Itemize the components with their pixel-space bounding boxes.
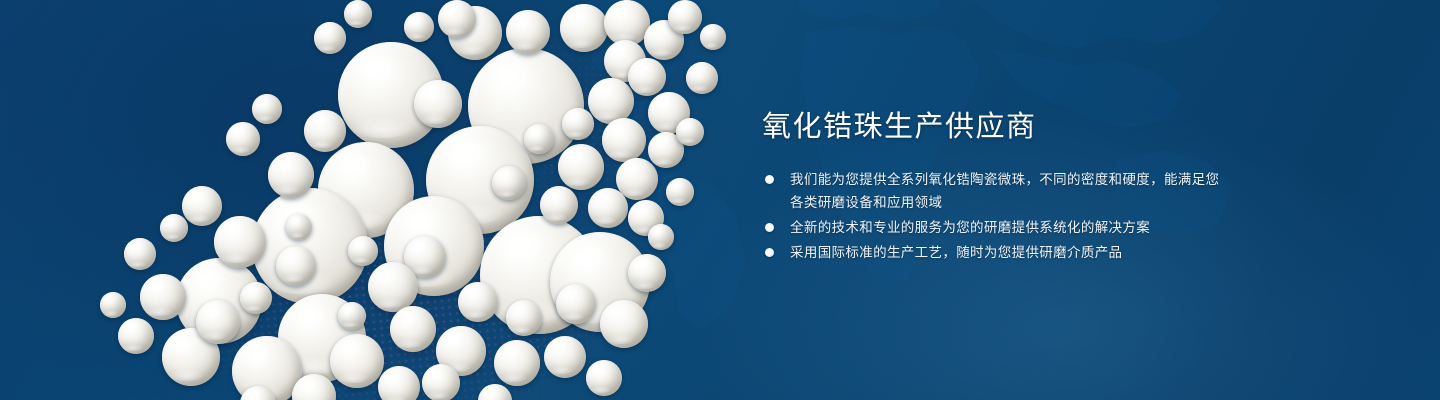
- bullet-dot-icon: [765, 248, 774, 257]
- banner-bullet-list: 我们能为您提供全系列氧化锆陶瓷微珠，不同的密度和硬度，能满足您各类研磨设备和应用…: [762, 168, 1232, 264]
- banner-copy: 氧化锆珠生产供应商 我们能为您提供全系列氧化锆陶瓷微珠，不同的密度和硬度，能满足…: [762, 108, 1232, 266]
- zirconia-beads-image: [0, 0, 760, 400]
- banner-headline: 氧化锆珠生产供应商: [762, 108, 1232, 146]
- banner-bullet-text-2: 全新的技术和专业的服务为您的研磨提供系统化的解决方案: [790, 220, 1150, 235]
- banner-bullet-item-3: 采用国际标准的生产工艺，随时为您提供研磨介质产品: [762, 241, 1232, 264]
- banner-bullet-item-2: 全新的技术和专业的服务为您的研磨提供系统化的解决方案: [762, 216, 1232, 239]
- halftone-texture-upper: [520, 0, 800, 280]
- bullet-dot-icon: [765, 223, 774, 232]
- bullet-dot-icon: [765, 175, 774, 184]
- banner-bullet-text-1: 我们能为您提供全系列氧化锆陶瓷微珠，不同的密度和硬度，能满足您各类研磨设备和应用…: [790, 172, 1219, 210]
- banner-bullet-item-1: 我们能为您提供全系列氧化锆陶瓷微珠，不同的密度和硬度，能满足您各类研磨设备和应用…: [762, 168, 1232, 214]
- hero-banner: 氧化锆珠生产供应商 我们能为您提供全系列氧化锆陶瓷微珠，不同的密度和硬度，能满足…: [0, 0, 1440, 400]
- halftone-texture: [79, 171, 661, 400]
- banner-bullet-text-3: 采用国际标准的生产工艺，随时为您提供研磨介质产品: [790, 245, 1122, 260]
